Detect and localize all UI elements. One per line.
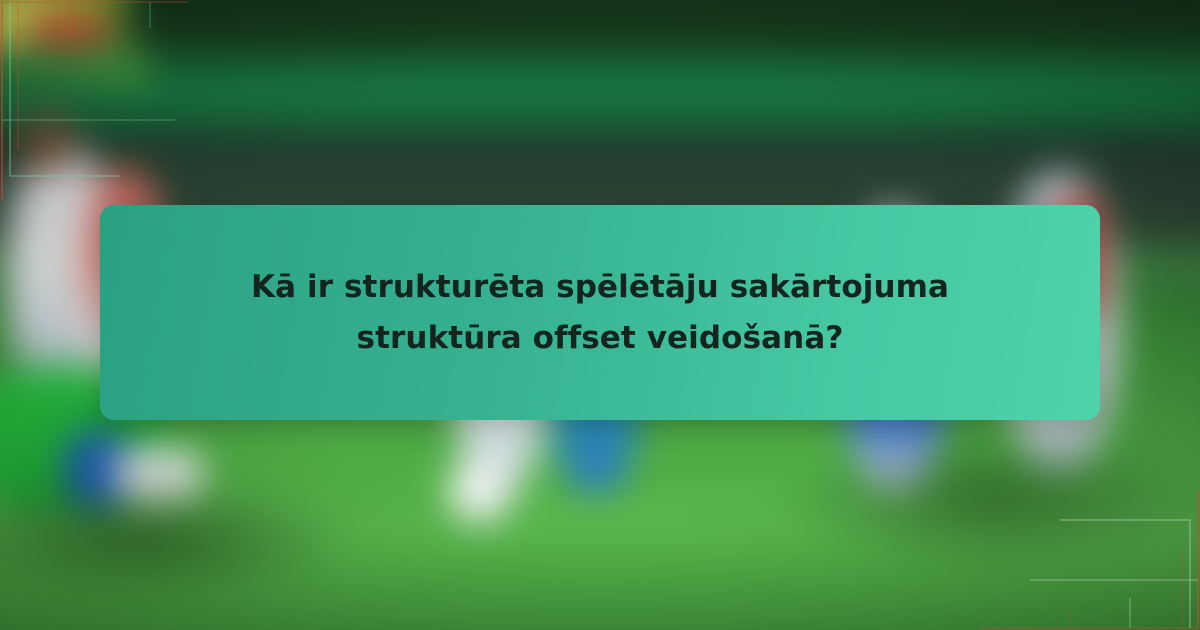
card-title: Kā ir strukturēta spēlētāju sakārtojuma … bbox=[170, 262, 1030, 362]
screenshot-root: Kā ir strukturēta spēlētāju sakārtojuma … bbox=[0, 0, 1200, 630]
question-card: Kā ir strukturēta spēlētāju sakārtojuma … bbox=[100, 205, 1100, 420]
